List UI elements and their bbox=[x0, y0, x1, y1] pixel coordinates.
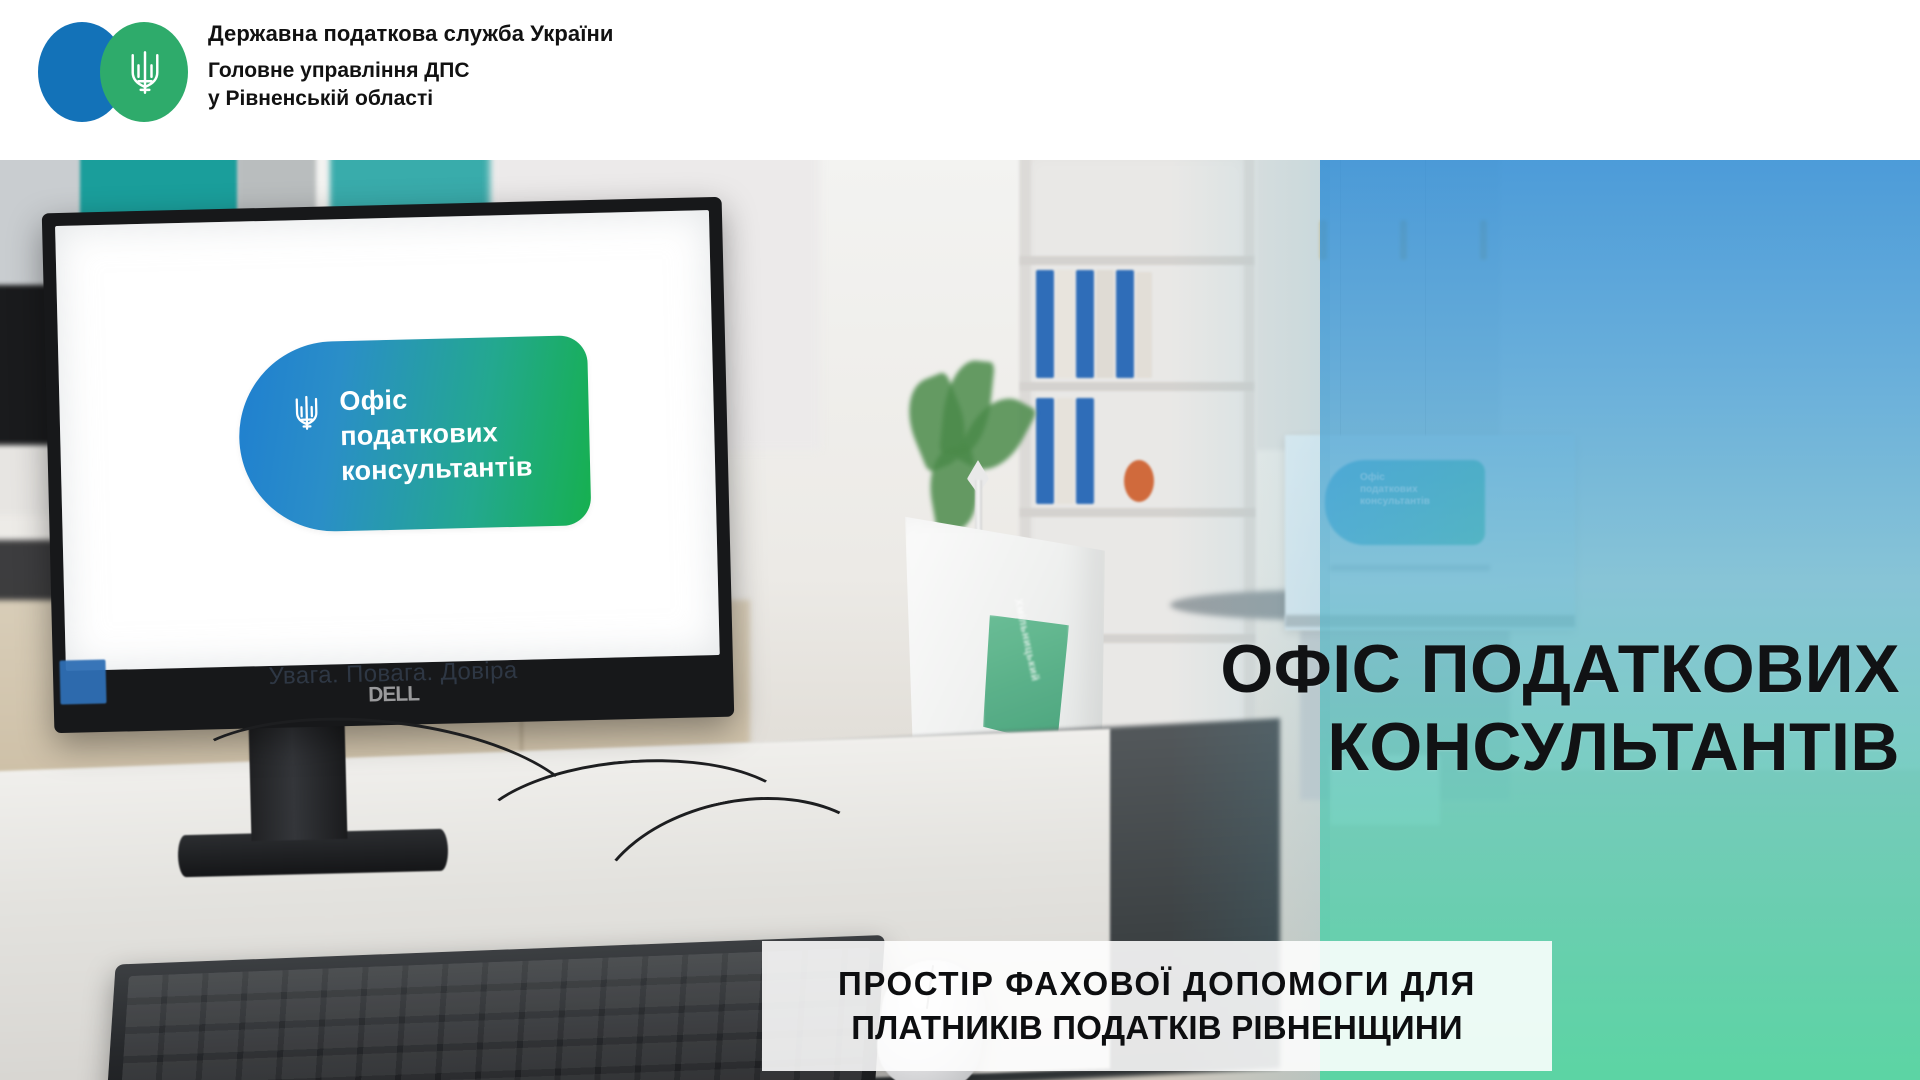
binder bbox=[1116, 270, 1134, 378]
hero-photo: Хмільницький Офіс податкових консультант… bbox=[0, 160, 1920, 1080]
binder bbox=[1056, 270, 1074, 378]
org-title: Державна податкова служба України bbox=[208, 20, 1108, 48]
binder bbox=[1096, 270, 1114, 378]
binder bbox=[1076, 398, 1094, 504]
dell-monitor: Офіс податкових консультантів Увага. Пов… bbox=[42, 197, 735, 733]
office-logo-line-3: консультантів bbox=[341, 448, 602, 489]
binder bbox=[1056, 398, 1074, 504]
hero-subtitle-banner: ПРОСТІР ФАХОВОЇ ДОПОМОГИ ДЛЯ ПЛАТНИКІВ П… bbox=[762, 941, 1552, 1071]
binder bbox=[1136, 272, 1152, 378]
tryzub-icon bbox=[122, 48, 168, 100]
hero-headline: ОФІС ПОДАТКОВИХ КОНСУЛЬТАНТІВ bbox=[820, 630, 1900, 786]
office-logo-text: Офіс податкових консультантів bbox=[339, 378, 601, 489]
hero-headline-line-2: КОНСУЛЬТАНТІВ bbox=[820, 708, 1900, 786]
hero-subtitle-line-1: ПРОСТІР ФАХОВОЇ ДОПОМОГИ ДЛЯ bbox=[838, 962, 1476, 1006]
hero-subtitle-line-2: ПЛАТНИКІВ ПОДАТКІВ РІВНЕНЩИНИ bbox=[851, 1006, 1463, 1050]
decor-ball bbox=[1124, 460, 1154, 502]
energy-star-sticker bbox=[59, 659, 106, 704]
page-header: Державна податкова служба України Головн… bbox=[0, 0, 1920, 160]
header-org-text: Державна податкова служба України Головн… bbox=[208, 20, 1108, 113]
screen-tryzub-icon bbox=[289, 392, 324, 437]
binder bbox=[1076, 270, 1094, 378]
org-subtitle-1: Головне управління ДПС bbox=[208, 57, 1108, 85]
dps-logo bbox=[38, 22, 198, 122]
org-subtitle-2: у Рівненській області bbox=[208, 85, 1108, 113]
hero-headline-line-1: ОФІС ПОДАТКОВИХ bbox=[820, 630, 1900, 708]
